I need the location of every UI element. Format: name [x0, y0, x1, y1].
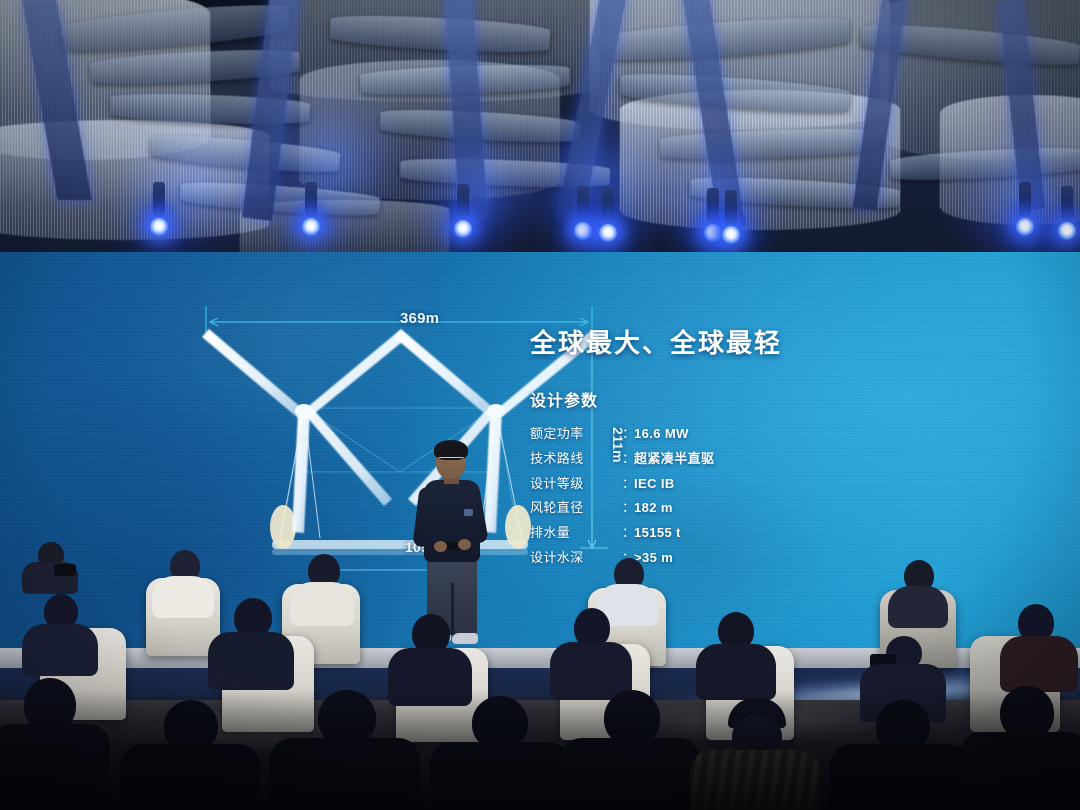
camera-icon [54, 564, 76, 576]
person-body [430, 742, 570, 810]
person-body [270, 738, 420, 810]
ceiling-spotlight [1012, 182, 1038, 240]
ceiling-spotlight [298, 182, 324, 240]
spec-label: 风轮直径 [530, 496, 622, 521]
conference-photo-scene: 369m 211m 105m 全球最大、全球最轻 设计参数 额定功率 ： 16.… [0, 0, 1080, 810]
audience-member [0, 678, 110, 810]
slide-section-heading: 设计参数 [530, 387, 950, 411]
rotor-left [202, 329, 407, 533]
audience-member [560, 690, 700, 810]
audience-member [152, 550, 214, 606]
person-body [888, 586, 948, 628]
spec-label: 额定功率 [530, 422, 622, 447]
audience-member [18, 542, 78, 588]
audience-member [888, 560, 948, 614]
person-body [22, 624, 98, 676]
spec-row: 额定功率 ： 16.6 MW [530, 422, 950, 447]
spec-value: 16.6 MW [634, 422, 950, 447]
spec-row: 设计等级 ： IEC IB [530, 472, 950, 497]
ceiling-spotlight [718, 190, 744, 248]
audience [0, 540, 1080, 810]
spec-value: 182 m [634, 496, 950, 521]
spotlight-lens [302, 218, 320, 236]
person-body [290, 582, 354, 626]
audience-member [208, 598, 294, 672]
person-body [696, 644, 776, 700]
blue-light-wash [250, 80, 410, 250]
person-body [0, 724, 110, 810]
audience-member [22, 594, 98, 662]
person-body [560, 738, 700, 810]
audience-member [550, 608, 632, 682]
audience-member [270, 690, 420, 810]
spec-value: 超紧凑半直驱 [634, 447, 950, 472]
slide-title: 全球最大、全球最轻 [530, 328, 950, 359]
spec-label: 技术路线 [530, 447, 622, 472]
slide-text-block: 全球最大、全球最轻 设计参数 额定功率 ： 16.6 MW 技术路线 ： 超紧凑… [530, 328, 950, 570]
dimension-label-width: 369m [400, 310, 439, 327]
audience-member [830, 700, 970, 810]
spec-label: 设计等级 [530, 472, 622, 497]
audience-member [960, 686, 1080, 810]
spec-row: 风轮直径 ： 182 m [530, 496, 950, 521]
audience-member [388, 614, 472, 688]
spotlight-lens [1016, 218, 1034, 236]
person-body [120, 744, 260, 810]
person-body [152, 576, 214, 618]
spotlight-lens [150, 218, 168, 236]
ceiling-spotlight [595, 188, 621, 246]
ceiling-spotlight [1054, 186, 1080, 244]
spec-colon: ： [622, 472, 634, 497]
spec-colon: ： [622, 496, 634, 521]
spotlight-lens [454, 220, 472, 238]
audience-member [1000, 604, 1078, 678]
presenter-glasses [438, 457, 464, 465]
ceiling-spotlight [450, 184, 476, 242]
spotlight-lens [599, 224, 617, 242]
person-body [690, 750, 820, 810]
audience-member [290, 554, 354, 610]
person-body [1000, 636, 1078, 692]
presenter-shirt-logo [464, 509, 473, 516]
ceiling-spotlight [146, 182, 172, 240]
audience-member [696, 612, 776, 684]
person-body [960, 732, 1080, 810]
spec-colon: ： [622, 422, 634, 447]
audience-member [596, 558, 658, 612]
spec-colon: ： [622, 447, 634, 472]
spotlight-lens [1058, 222, 1076, 240]
spec-row: 技术路线 ： 超紧凑半直驱 [530, 447, 950, 472]
spec-value: IEC IB [634, 472, 950, 497]
audience-member [430, 696, 570, 810]
spotlight-lens [722, 226, 740, 244]
audience-member [120, 700, 260, 810]
person-body [830, 744, 970, 810]
person-body [208, 632, 294, 690]
audience-member-with-cap [690, 698, 820, 810]
ceiling [0, 0, 1080, 256]
